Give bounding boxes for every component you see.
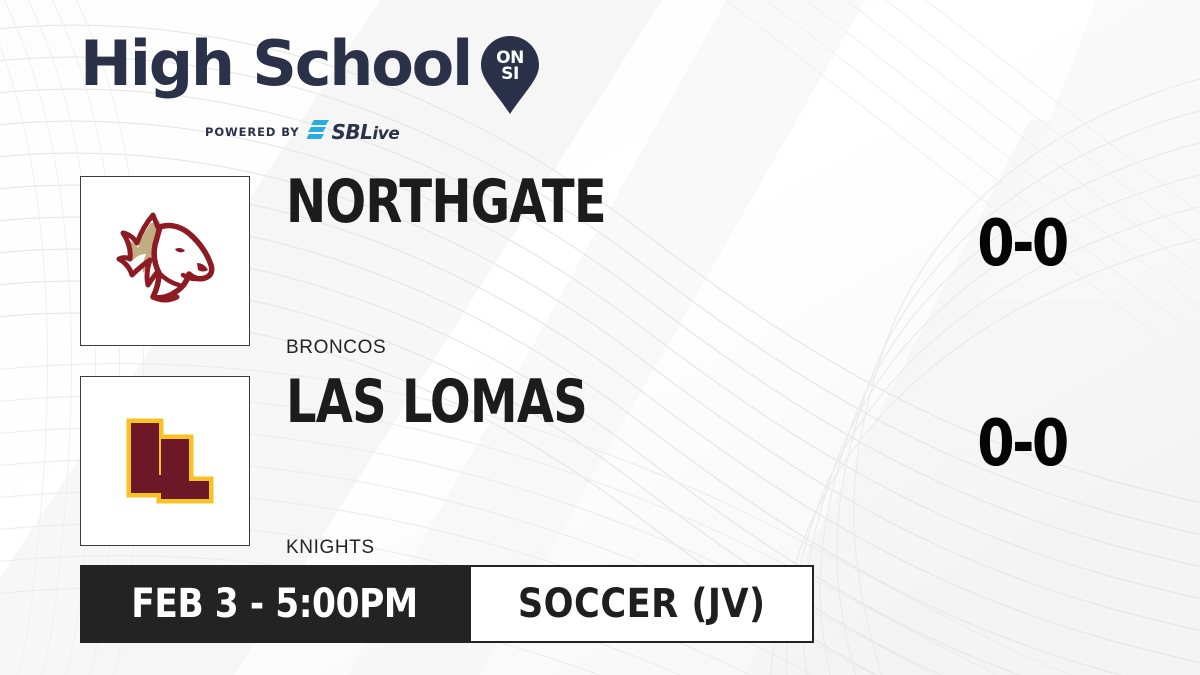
game-datetime-label: FEB 3 - 5:00PM: [131, 584, 417, 624]
on-si-pin-icon: ON SI: [481, 36, 539, 114]
game-datetime-chip: FEB 3 - 5:00PM: [80, 565, 469, 643]
team-record: 0-0: [938, 412, 1106, 476]
team-record: 0-0: [938, 212, 1106, 276]
brand-wordmark: High School: [80, 34, 471, 95]
interlocking-ll-icon: [105, 401, 225, 521]
sblive-ive: ive: [372, 124, 399, 144]
team-name: LAS LOMAS: [286, 372, 587, 432]
matchup-graphic: High School ON SI POWERED BY: [0, 0, 1200, 675]
team-logo-card: [80, 376, 250, 546]
brand-row: High School ON SI: [80, 34, 539, 114]
sblive-wordmark: SBLive: [331, 120, 399, 144]
sblive-sbl: SBL: [331, 120, 372, 144]
powered-by-label: POWERED BY: [205, 125, 299, 139]
team-mascot: KNIGHTS: [286, 537, 375, 559]
team-name: NORTHGATE: [286, 172, 606, 232]
pin-line-si: SI: [501, 64, 519, 84]
on-si-pin-text: ON SI: [481, 50, 539, 82]
team-logo-card: [80, 176, 250, 346]
sblive-logo: SBLive: [307, 120, 399, 144]
team-mascot: BRONCOS: [286, 337, 386, 359]
game-sport-chip: SOCCER (JV): [469, 565, 814, 643]
game-info-bar: FEB 3 - 5:00PM SOCCER (JV): [80, 565, 814, 643]
bronco-head-icon: [105, 201, 225, 321]
powered-by-row: POWERED BY SBLive: [205, 120, 539, 144]
brand-header: High School ON SI POWERED BY: [80, 34, 539, 144]
sblive-swoosh-icon: [307, 120, 329, 144]
game-sport-label: SOCCER (JV): [518, 584, 766, 624]
